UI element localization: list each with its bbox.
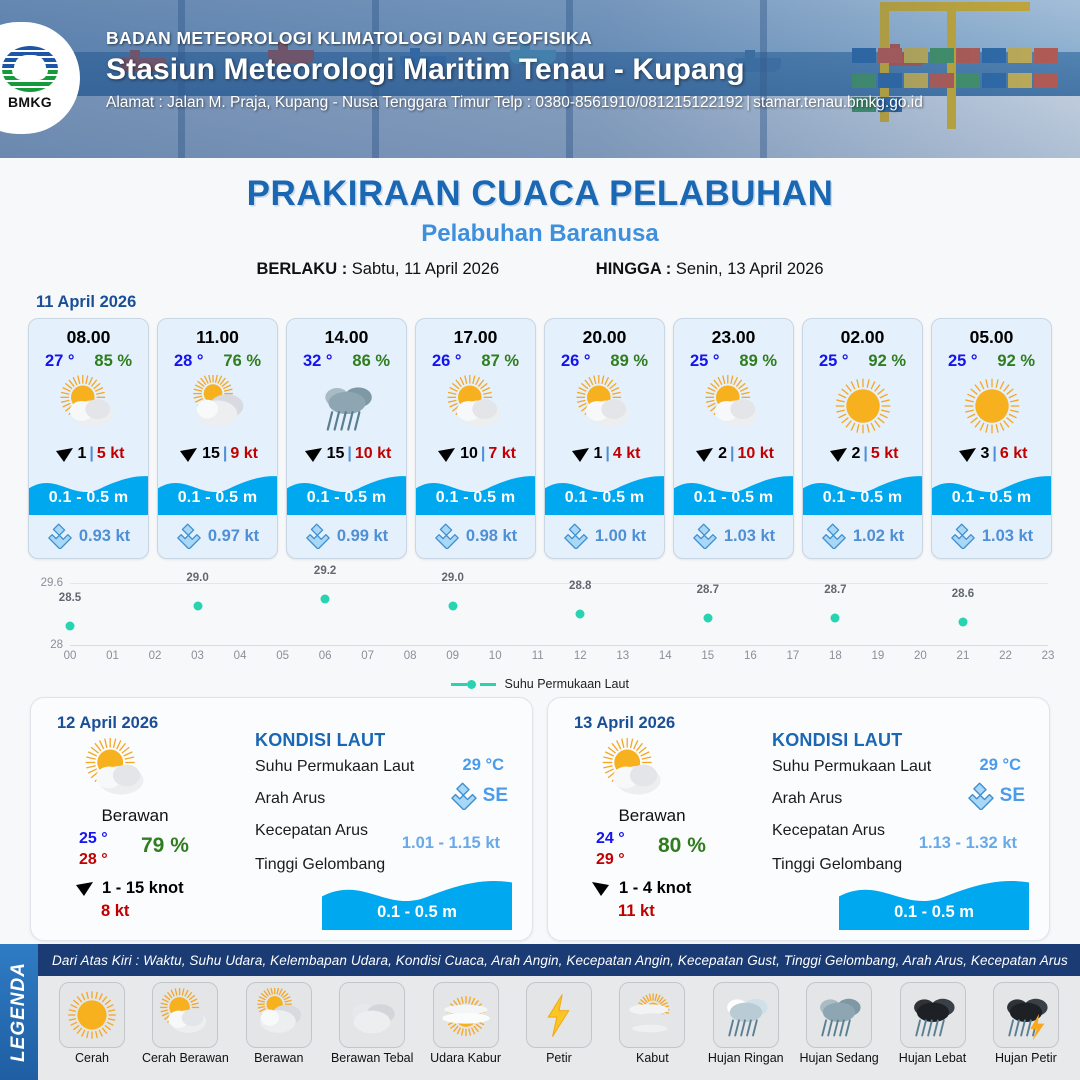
legend-main: Dari Atas Kiri : Waktu, Suhu Udara, Kele… [38,944,1080,1080]
legend-icon-box [339,982,405,1048]
current-speed: 1.00 kt [595,527,646,546]
wind-separator: | [863,445,867,463]
forecast-temp-humidity: 32 ° 86 % [287,348,406,371]
forecast-card: 23.00 25 ° 89 % 2 | 10 kt 0.1 - 0.5 m 1.… [673,318,794,559]
weather-condition-icon [932,373,1051,439]
forecast-card: 05.00 25 ° 92 % 3 | 6 kt 0.1 - 0.5 m 1.0… [931,318,1052,559]
rain-icon [316,375,378,437]
chart-data-point [831,613,840,622]
panel-section-title: KONDISI LAUT [772,730,1033,751]
chart-x-tick: 21 [957,650,970,662]
legend-item: Berawan Tebal [326,982,418,1065]
wave-block: 0.1 - 0.5 m [803,467,922,525]
panel-gust: 8 kt [101,902,129,921]
weather-condition-icon [416,373,535,439]
current-row: 0.97 kt [158,523,277,558]
gust-speed: 7 kt [488,445,516,463]
wind-arrow-icon [590,878,612,898]
legend-item: Petir [513,982,605,1065]
chart-x-tick: 18 [829,650,842,662]
chart-x-tick: 16 [744,650,757,662]
clouds-icon [345,988,399,1042]
sst-chart-plot: 29.6280001020304050607080910111213141516… [70,583,1048,645]
wind-arrow-icon [73,878,95,898]
chart-x-tick: 00 [64,650,77,662]
wind-row: 2 | 10 kt [674,439,793,469]
chart-x-tick: 01 [106,650,119,662]
weather-condition-icon [287,373,406,439]
legend-icon-box [526,982,592,1048]
forecast-card: 17.00 26 ° 87 % 10 | 7 kt 0.1 - 0.5 m 0.… [415,318,536,559]
weather-condition-icon [158,373,277,439]
wind-speed: 15 [202,445,220,463]
wind-arrow-icon [693,444,715,464]
chart-data-point [66,621,75,630]
panel-current-dir-value: SE [450,782,508,810]
legend-item: Hujan Sedang [793,982,885,1065]
wind-speed: 15 [327,445,345,463]
current-speed: 1.03 kt [724,527,775,546]
arrow-se-icon [692,523,718,549]
wind-arrow-icon [569,444,591,464]
station-name: Stasiun Meteorologi Maritim Tenau - Kupa… [106,53,923,87]
wind-speed: 3 [981,445,990,463]
header-text-block: BADAN METEOROLOGI KLIMATOLOGI DAN GEOFIS… [106,28,923,112]
legend-item: Kabut [606,982,698,1065]
gust-speed: 10 kt [737,445,773,463]
sun-clouds-icon [187,375,249,437]
chart-data-point [576,610,585,619]
wave-block: 0.1 - 0.5 m [545,467,664,525]
wave-block: 0.1 - 0.5 m [287,467,406,525]
arrow-se-icon [47,523,73,549]
chart-data-point [703,613,712,622]
chart-data-point [193,602,202,611]
sun-cloud-icon [83,738,151,806]
wave-block: 0.1 - 0.5 m [29,467,148,525]
humidity: 76 % [223,352,261,371]
chart-x-tick: 19 [872,650,885,662]
panel-wave-block: 0.1 - 0.5 m [322,872,512,930]
chart-y-tick: 28 [50,639,63,651]
panel-temp-max: 29 ° [596,851,625,869]
panel-humidity: 79 % [141,834,189,858]
panel-sst-value: 29 °C [463,756,504,775]
gust-speed: 10 kt [355,445,391,463]
chart-x-tick: 02 [149,650,162,662]
chart-x-tick: 23 [1042,650,1055,662]
validity-row: BERLAKU : Sabtu, 11 April 2026 HINGGA : … [0,260,1080,279]
wave-block: 0.1 - 0.5 m [932,467,1051,525]
legend-item: Cerah Berawan [139,982,231,1065]
air-temperature: 25 ° [819,352,849,371]
panel-wave-value: 0.1 - 0.5 m [322,903,512,922]
heavy-rain-icon [906,988,960,1042]
daily-summary-panel: 13 April 2026 Berawan 24 ° 29 ° 80 % 1 -… [547,697,1050,941]
current-row: 0.99 kt [287,523,406,558]
legend-item-label: Hujan Sedang [793,1051,885,1065]
weather-condition-icon [803,373,922,439]
forecast-date-label: 11 April 2026 [36,293,1080,312]
weather-condition-icon [29,373,148,439]
haze-icon [439,988,493,1042]
legend-item: Udara Kabur [420,982,512,1065]
wave-height: 0.1 - 0.5 m [29,489,148,507]
forecast-card: 08.00 27 ° 85 % 1 | 5 kt 0.1 - 0.5 m 0.9… [28,318,149,559]
legend-icon-box [59,982,125,1048]
current-row: 0.93 kt [29,523,148,558]
legend-icon-box [713,982,779,1048]
arrow-se-icon [950,523,976,549]
arrow-se-icon [450,782,478,810]
forecast-temp-humidity: 26 ° 87 % [416,348,535,371]
sun-cloud-icon [445,375,507,437]
legend-note: Dari Atas Kiri : Waktu, Suhu Udara, Kele… [38,944,1080,976]
panel-section-title: KONDISI LAUT [255,730,516,751]
wind-separator: | [605,445,609,463]
chart-legend-label: Suhu Permukaan Laut [505,677,629,691]
legend-side-banner: LEGENDA [0,944,38,1080]
panel-temp-max: 28 ° [79,851,108,869]
chart-data-point [321,594,330,603]
chart-point-label: 28.7 [697,584,719,596]
legend-item-label: Berawan Tebal [326,1051,418,1065]
chart-data-point [958,617,967,626]
legend-item-label: Cerah Berawan [139,1051,231,1065]
forecast-time: 05.00 [932,319,1051,348]
hingga-label: HINGGA : [596,260,671,278]
air-temperature: 26 ° [432,352,462,371]
legend-item-label: Berawan [233,1051,325,1065]
current-speed: 0.97 kt [208,527,259,546]
hourly-forecast-list: 08.00 27 ° 85 % 1 | 5 kt 0.1 - 0.5 m 0.9… [0,318,1080,559]
panel-wave-block: 0.1 - 0.5 m [839,872,1029,930]
moderate-rain-icon [812,988,866,1042]
chart-x-tick: 06 [319,650,332,662]
humidity: 92 % [868,352,906,371]
forecast-temp-humidity: 26 ° 89 % [545,348,664,371]
panel-sea-conditions: KONDISI LAUT Suhu Permukaan Laut Arah Ar… [772,730,1033,874]
wind-arrow-icon [302,444,324,464]
forecast-card: 02.00 25 ° 92 % 2 | 5 kt 0.1 - 0.5 m 1.0… [802,318,923,559]
wind-separator: | [730,445,734,463]
arrow-se-icon [967,782,995,810]
chart-x-tick: 03 [191,650,204,662]
legend-icon-box [433,982,499,1048]
berlaku-label: BERLAKU : [256,260,347,278]
panel-sst-value: 29 °C [980,756,1021,775]
arrow-se-icon [176,523,202,549]
wind-arrow-icon [827,444,849,464]
hingga-value: Senin, 13 April 2026 [676,260,824,278]
current-speed: 0.99 kt [337,527,388,546]
berlaku-value: Sabtu, 11 April 2026 [352,260,499,278]
bmkg-logo-text: BMKG [8,94,52,110]
wind-speed: 2 [718,445,727,463]
title-block: PRAKIRAAN CUACA PELABUHAN Pelabuhan Bara… [0,174,1080,279]
chart-x-tick: 15 [701,650,714,662]
forecast-temp-humidity: 28 ° 76 % [158,348,277,371]
panel-gust: 11 kt [618,902,655,921]
forecast-temp-humidity: 25 ° 92 % [932,348,1051,371]
wind-arrow-icon [53,444,75,464]
wind-row: 1 | 4 kt [545,439,664,469]
forecast-temp-humidity: 25 ° 89 % [674,348,793,371]
air-temperature: 32 ° [303,352,333,371]
legend-item: Cerah [46,982,138,1065]
chart-point-label: 29.2 [314,565,336,577]
panel-wind: 1 - 15 knot [102,879,184,898]
hingga-block: HINGGA : Senin, 13 April 2026 [596,260,824,279]
wind-separator: | [347,445,351,463]
panel-wind-row: 1 - 4 knot [590,878,691,898]
wave-block: 0.1 - 0.5 m [416,467,535,525]
forecast-time: 20.00 [545,319,664,348]
gust-speed: 9 kt [230,445,258,463]
sst-chart: 29.6280001020304050607080910111213141516… [14,575,1066,683]
panel-condition: Berawan [562,806,742,826]
current-speed: 0.93 kt [79,527,130,546]
page-header: BMKG BADAN METEOROLOGI KLIMATOLOGI DAN G… [0,0,1080,158]
gust-speed: 4 kt [613,445,641,463]
air-temperature: 26 ° [561,352,591,371]
humidity: 89 % [739,352,777,371]
arrow-se-icon [305,523,331,549]
legend-icon-box [246,982,312,1048]
sun-cloud-icon [574,375,636,437]
chart-x-tick: 05 [276,650,289,662]
chart-point-label: 29.0 [186,572,208,584]
panel-sea-conditions: KONDISI LAUT Suhu Permukaan Laut Arah Ar… [255,730,516,874]
arrow-se-icon [434,523,460,549]
chart-x-tick: 14 [659,650,672,662]
light-rain-icon [719,988,773,1042]
forecast-time: 08.00 [29,319,148,348]
current-row: 1.02 kt [803,523,922,558]
humidity: 92 % [997,352,1035,371]
weather-condition-icon [545,373,664,439]
chart-x-tick: 13 [616,650,629,662]
forecast-time: 02.00 [803,319,922,348]
chart-x-tick: 08 [404,650,417,662]
legend-item-label: Hujan Petir [980,1051,1072,1065]
sun-clouds-icon [252,988,306,1042]
wind-separator: | [223,445,227,463]
wave-height: 0.1 - 0.5 m [803,489,922,507]
legend-icon-box [900,982,966,1048]
panel-condition: Berawan [45,806,225,826]
chart-x-tick: 22 [999,650,1012,662]
legend-items: Cerah Cerah Berawan Berawan Berawan Teba… [38,976,1080,1065]
sun-icon [65,988,119,1042]
chart-point-label: 28.7 [824,584,846,596]
chart-x-tick: 10 [489,650,502,662]
legend-item: Berawan [233,982,325,1065]
chart-x-tick: 04 [234,650,247,662]
chart-x-tick: 20 [914,650,927,662]
chart-gridline [70,645,1048,646]
current-row: 1.03 kt [932,523,1051,558]
panel-wave-value: 0.1 - 0.5 m [839,903,1029,922]
wind-arrow-icon [956,444,978,464]
forecast-time: 17.00 [416,319,535,348]
wind-speed: 1 [594,445,603,463]
legend-item: Hujan Ringan [700,982,792,1065]
wind-separator: | [481,445,485,463]
sun-cloud-icon [703,375,765,437]
wave-height: 0.1 - 0.5 m [932,489,1051,507]
thunderstorm-icon [999,988,1053,1042]
legend-icon-box [993,982,1059,1048]
legend-icon-box [619,982,685,1048]
legend-section: LEGENDA Dari Atas Kiri : Waktu, Suhu Uda… [0,944,1080,1080]
sun-icon [961,375,1023,437]
wind-arrow-icon [435,444,457,464]
panel-weather-icon [83,738,151,811]
legend-icon-box [152,982,218,1048]
chart-legend: Suhu Permukaan Laut [14,677,1066,691]
humidity: 85 % [94,352,132,371]
bmkg-logo-mark [2,46,58,92]
sun-cloud-icon [58,375,120,437]
chart-x-tick: 07 [361,650,374,662]
forecast-time: 23.00 [674,319,793,348]
wind-separator: | [89,445,93,463]
wave-height: 0.1 - 0.5 m [287,489,406,507]
forecast-time: 14.00 [287,319,406,348]
chart-point-label: 28.8 [569,580,591,592]
wave-height: 0.1 - 0.5 m [158,489,277,507]
chart-y-tick: 29.6 [41,577,63,589]
gust-speed: 5 kt [871,445,899,463]
gust-speed: 5 kt [97,445,125,463]
current-speed: 1.02 kt [853,527,904,546]
station-address-line: Alamat : Jalan M. Praja, Kupang - Nusa T… [106,94,923,112]
current-speed: 0.98 kt [466,527,517,546]
wind-speed: 2 [852,445,861,463]
legend-item-label: Hujan Lebat [887,1051,979,1065]
weather-condition-icon [674,373,793,439]
chart-x-tick: 09 [446,650,459,662]
panel-current-dir-value: SE [967,782,1025,810]
panel-date: 13 April 2026 [574,714,675,733]
legend-side-title: LEGENDA [8,962,30,1062]
wind-row: 15 | 10 kt [287,439,406,469]
panel-humidity: 80 % [658,834,706,858]
wave-block: 0.1 - 0.5 m [158,467,277,525]
legend-item: Hujan Lebat [887,982,979,1065]
wind-row: 2 | 5 kt [803,439,922,469]
chart-point-label: 28.6 [952,588,974,600]
legend-item-label: Udara Kabur [420,1051,512,1065]
page-subtitle: Pelabuhan Baranusa [0,220,1080,248]
current-row: 0.98 kt [416,523,535,558]
wind-row: 1 | 5 kt [29,439,148,469]
station-address: Alamat : Jalan M. Praja, Kupang - Nusa T… [106,94,743,111]
legend-item-label: Cerah [46,1051,138,1065]
legend-item-label: Kabut [606,1051,698,1065]
sun-cloud-icon [600,738,668,806]
panel-dir-text: SE [1000,785,1025,807]
chart-x-tick: 17 [786,650,799,662]
air-temperature: 25 ° [690,352,720,371]
chart-point-label: 28.5 [59,592,81,604]
air-temperature: 25 ° [948,352,978,371]
wind-arrow-icon [177,444,199,464]
arrow-se-icon [821,523,847,549]
forecast-card: 14.00 32 ° 86 % 15 | 10 kt 0.1 - 0.5 m 0… [286,318,407,559]
legend-icon-box [806,982,872,1048]
arrow-se-icon [563,523,589,549]
wind-separator: | [992,445,996,463]
panel-current-speed-value: 1.01 - 1.15 kt [402,834,500,853]
wind-speed: 10 [460,445,478,463]
fog-icon [625,988,679,1042]
panel-current-speed-value: 1.13 - 1.32 kt [919,834,1017,853]
forecast-temp-humidity: 27 ° 85 % [29,348,148,371]
sun-cloud-icon [158,988,212,1042]
chart-data-point [448,602,457,611]
wind-row: 15 | 9 kt [158,439,277,469]
wave-height: 0.1 - 0.5 m [416,489,535,507]
panel-temp-min: 24 ° [596,830,625,848]
chart-point-label: 29.0 [441,572,463,584]
legend-item-label: Petir [513,1051,605,1065]
wave-block: 0.1 - 0.5 m [674,467,793,525]
humidity: 87 % [481,352,519,371]
chart-gridline [70,583,1048,584]
station-website: stamar.tenau.bmkg.go.id [753,94,923,111]
humidity: 86 % [352,352,390,371]
chart-x-tick: 11 [532,650,544,662]
current-row: 1.00 kt [545,523,664,558]
humidity: 89 % [610,352,648,371]
berlaku-block: BERLAKU : Sabtu, 11 April 2026 [256,260,499,279]
panel-temp-min: 25 ° [79,830,108,848]
panel-weather-icon [600,738,668,811]
panel-dir-text: SE [483,785,508,807]
legend-item-label: Hujan Ringan [700,1051,792,1065]
current-speed: 1.03 kt [982,527,1033,546]
panel-wind-row: 1 - 15 knot [73,878,184,898]
chart-x-tick: 12 [574,650,587,662]
wave-height: 0.1 - 0.5 m [674,489,793,507]
sun-icon [832,375,894,437]
forecast-temp-humidity: 25 ° 92 % [803,348,922,371]
daily-summary-panels: 12 April 2026 Berawan 25 ° 28 ° 79 % 1 -… [0,697,1080,941]
air-temperature: 28 ° [174,352,204,371]
wind-row: 10 | 7 kt [416,439,535,469]
wind-speed: 1 [78,445,87,463]
current-row: 1.03 kt [674,523,793,558]
legend-item: Hujan Petir [980,982,1072,1065]
wind-row: 3 | 6 kt [932,439,1051,469]
organization-name: BADAN METEOROLOGI KLIMATOLOGI DAN GEOFIS… [106,28,923,49]
panel-wind: 1 - 4 knot [619,879,691,898]
page-title: PRAKIRAAN CUACA PELABUHAN [0,174,1080,214]
forecast-card: 20.00 26 ° 89 % 1 | 4 kt 0.1 - 0.5 m 1.0… [544,318,665,559]
gust-speed: 6 kt [1000,445,1028,463]
forecast-card: 11.00 28 ° 76 % 15 | 9 kt 0.1 - 0.5 m 0.… [157,318,278,559]
air-temperature: 27 ° [45,352,75,371]
forecast-time: 11.00 [158,319,277,348]
panel-date: 12 April 2026 [57,714,158,733]
wave-height: 0.1 - 0.5 m [545,489,664,507]
lightning-icon [532,988,586,1042]
daily-summary-panel: 12 April 2026 Berawan 25 ° 28 ° 79 % 1 -… [30,697,533,941]
